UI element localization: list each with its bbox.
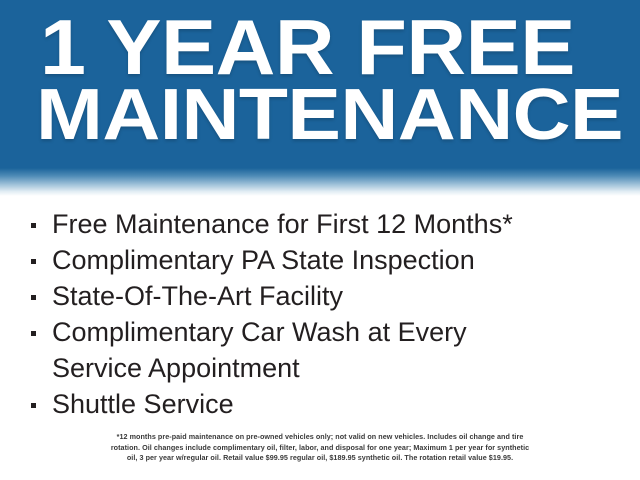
banner-headline-line1: 1 YEAR FREE <box>40 12 575 84</box>
list-item-label: Shuttle Service <box>52 389 234 419</box>
banner-gradient-fade <box>0 168 640 196</box>
list-item: Complimentary PA State Inspection <box>0 242 640 278</box>
square-bullet-icon <box>31 403 36 408</box>
banner-headline-line2: MAINTENANCE <box>36 82 623 148</box>
square-bullet-icon <box>31 331 36 336</box>
list-item-label: State-Of-The-Art Facility <box>52 281 343 311</box>
list-item: Free Maintenance for First 12 Months* <box>0 206 640 242</box>
list-item: State-Of-The-Art Facility <box>0 278 640 314</box>
disclaimer-line-2: rotation. Oil changes include compliment… <box>0 443 640 454</box>
list-item-label: Free Maintenance for First 12 Months* <box>52 209 513 239</box>
feature-list: Free Maintenance for First 12 Months* Co… <box>0 206 640 422</box>
promo-banner: 1 YEAR FREE MAINTENANCE <box>0 0 640 196</box>
list-item-label: Complimentary PA State Inspection <box>52 245 475 275</box>
list-item-label: Complimentary Car Wash at Every <box>52 317 467 347</box>
disclaimer-text: *12 months pre-paid maintenance on pre-o… <box>0 432 640 464</box>
list-item: Complimentary Car Wash at Every <box>0 314 640 350</box>
list-item: Shuttle Service <box>0 386 640 422</box>
list-item-continuation: Service Appointment <box>0 350 640 386</box>
list-item-label: Service Appointment <box>52 353 300 383</box>
square-bullet-icon <box>31 223 36 228</box>
disclaimer-line-1: *12 months pre-paid maintenance on pre-o… <box>0 432 640 443</box>
square-bullet-icon <box>31 295 36 300</box>
disclaimer-line-3: oil, 3 per year w/regular oil. Retail va… <box>0 453 640 464</box>
square-bullet-icon <box>31 259 36 264</box>
